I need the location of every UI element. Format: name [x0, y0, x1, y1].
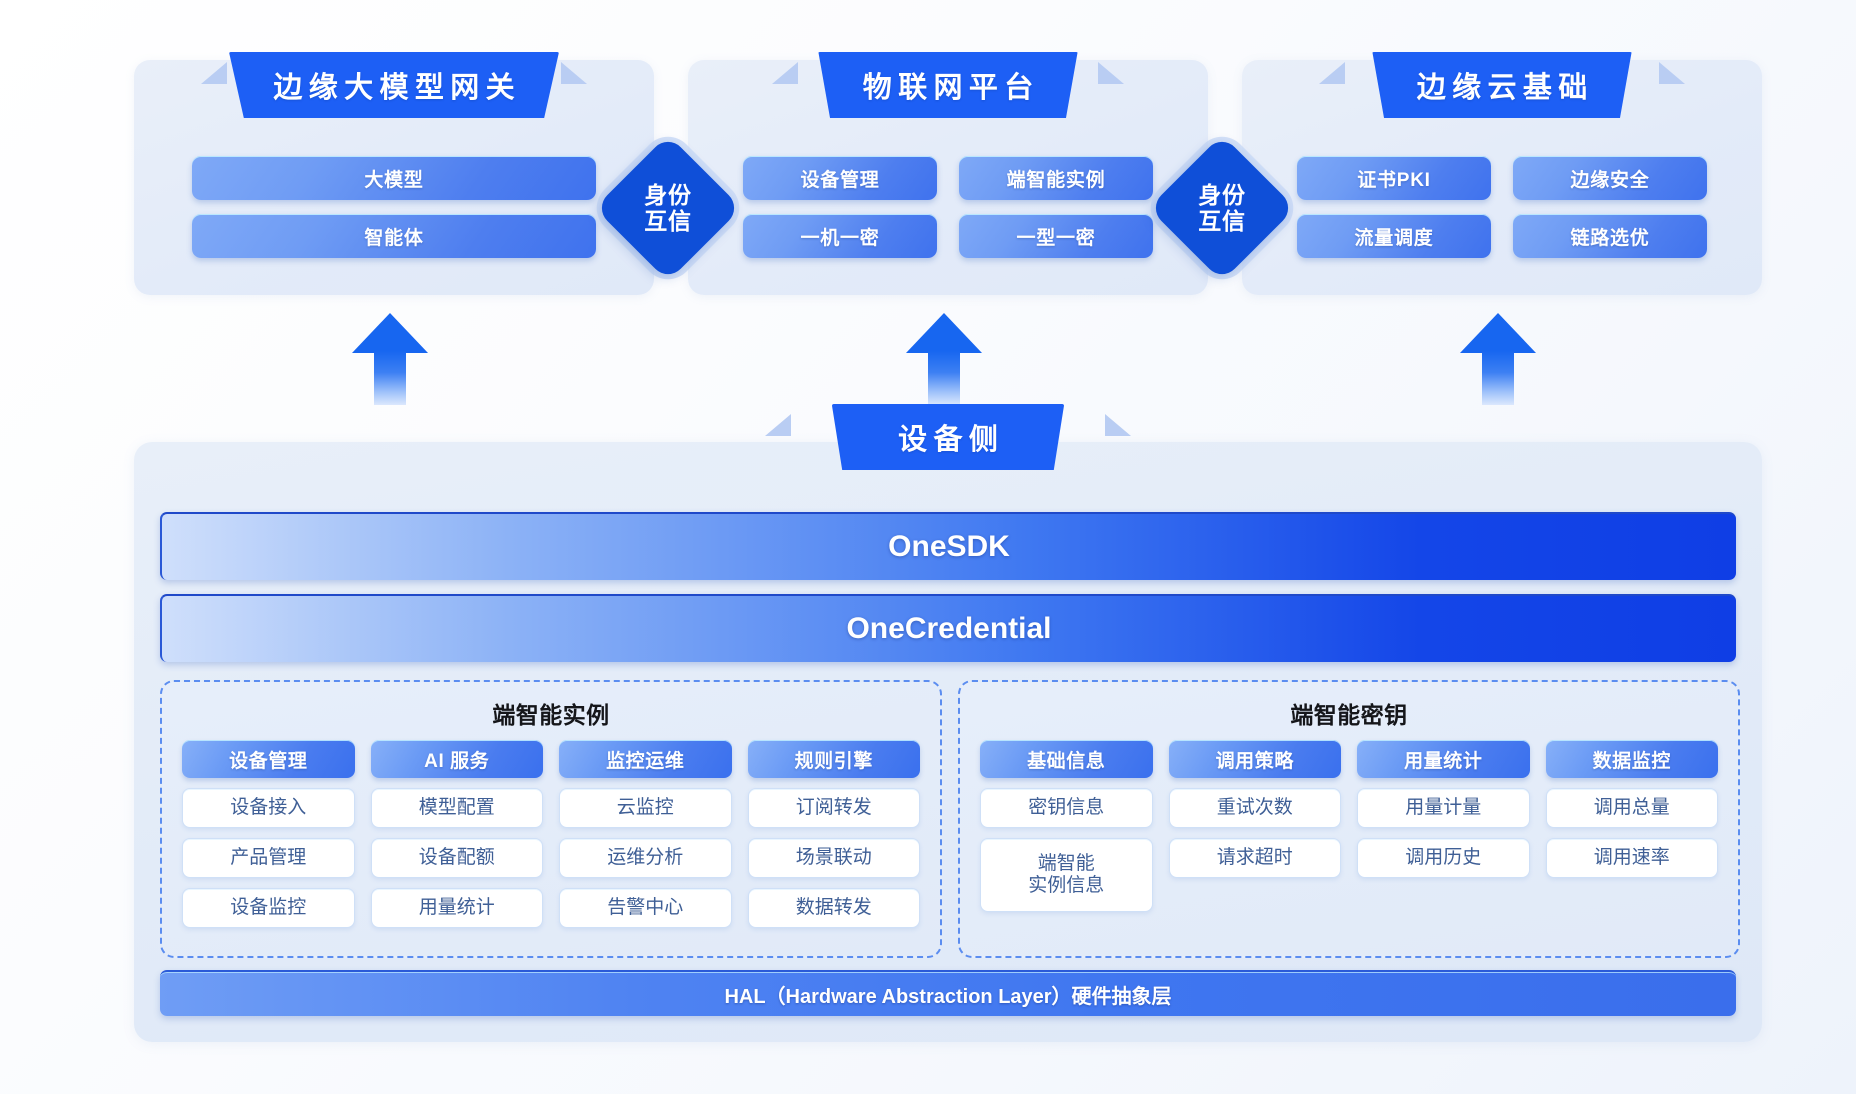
- column-head[interactable]: 调用策略: [1169, 740, 1342, 778]
- trust-badge-right[interactable]: 身份 互信: [1148, 134, 1295, 281]
- column-head[interactable]: 设备管理: [182, 740, 355, 778]
- column-head[interactable]: 用量统计: [1357, 740, 1530, 778]
- chip-item[interactable]: 链路选优: [1513, 214, 1707, 258]
- device-side-title: 设备侧: [892, 416, 1005, 458]
- bar-onecredential[interactable]: OneCredential: [160, 594, 1736, 662]
- column-cell[interactable]: 调用速率: [1546, 838, 1719, 878]
- column-cell[interactable]: 用量统计: [371, 888, 544, 928]
- column-cell[interactable]: 请求超时: [1169, 838, 1342, 878]
- group-edge-ai-instance: 端智能实例 设备管理 设备接入 产品管理 设备监控 AI 服务 模型配置 设备配…: [160, 680, 942, 958]
- panel-edge-llm-gateway: 边缘大模型网关 大模型 智能体: [134, 60, 654, 295]
- trust-badge-left[interactable]: 身份 互信: [594, 134, 741, 281]
- column-head[interactable]: 数据监控: [1546, 740, 1719, 778]
- column-cell[interactable]: 运维分析: [559, 838, 732, 878]
- banner-tail-left-icon: [772, 62, 798, 84]
- column-cell[interactable]: 模型配置: [371, 788, 544, 828]
- column-cell[interactable]: 设备接入: [182, 788, 355, 828]
- arrow-shaft-icon: [1482, 351, 1514, 405]
- column-cell[interactable]: 产品管理: [182, 838, 355, 878]
- group-column: 调用策略 重试次数 请求超时: [1169, 740, 1342, 942]
- chip-item[interactable]: 边缘安全: [1513, 156, 1707, 200]
- chip-item[interactable]: 智能体: [192, 214, 596, 258]
- column-cell[interactable]: 重试次数: [1169, 788, 1342, 828]
- arrow-to-gateway-icon: [352, 313, 428, 405]
- banner-tail-right-icon: [1659, 62, 1685, 84]
- group-column: 监控运维 云监控 运维分析 告警中心: [559, 740, 732, 942]
- panel-edge-cloud-infra: 边缘云基础 证书PKI 边缘安全 流量调度 链路选优: [1242, 60, 1762, 295]
- bar-onesdk[interactable]: OneSDK: [160, 512, 1736, 580]
- device-side-container: 设备侧 OneSDK OneCredential 端智能实例 设备管理 设备接入…: [134, 442, 1762, 1042]
- chip-item[interactable]: 一机一密: [743, 214, 937, 258]
- panel-title: 边缘云基础: [1410, 64, 1593, 106]
- arrow-head-icon: [906, 313, 982, 353]
- banner-tail-left-icon: [765, 414, 791, 436]
- column-cell[interactable]: 用量计量: [1357, 788, 1530, 828]
- panel-title: 物联网平台: [856, 64, 1039, 106]
- cell-line: 实例信息: [1028, 875, 1104, 897]
- column-cell[interactable]: 设备监控: [182, 888, 355, 928]
- hal-label: HAL（Hardware Abstraction Layer）硬件抽象层: [724, 980, 1171, 1009]
- chip-item[interactable]: 一型一密: [959, 214, 1153, 258]
- chip-item[interactable]: 流量调度: [1297, 214, 1491, 258]
- trust-badge-line1: 身份: [1198, 182, 1245, 208]
- panel-title: 边缘大模型网关: [267, 64, 521, 106]
- panel-banner-edge-llm-gateway: 边缘大模型网关: [219, 52, 569, 118]
- arrow-head-icon: [352, 313, 428, 353]
- column-cell[interactable]: 设备配额: [371, 838, 544, 878]
- banner-tail-right-icon: [1105, 414, 1131, 436]
- bar-label: OneCredential: [846, 612, 1051, 646]
- column-cell[interactable]: 场景联动: [748, 838, 921, 878]
- group-column: 基础信息 密钥信息 端智能实例信息: [980, 740, 1153, 942]
- column-cell[interactable]: 云监控: [559, 788, 732, 828]
- bar-label: OneSDK: [888, 530, 1010, 564]
- group-column: 规则引擎 订阅转发 场景联动 数据转发: [748, 740, 921, 942]
- column-cell-multiline[interactable]: 端智能实例信息: [980, 838, 1153, 912]
- trust-badge-line2: 互信: [644, 208, 691, 234]
- arrow-head-icon: [1460, 313, 1536, 353]
- arrow-shaft-icon: [374, 351, 406, 405]
- column-cell[interactable]: 数据转发: [748, 888, 921, 928]
- hal-bar[interactable]: HAL（Hardware Abstraction Layer）硬件抽象层: [160, 970, 1736, 1016]
- group-title: 端智能实例: [162, 696, 940, 730]
- group-edge-ai-key: 端智能密钥 基础信息 密钥信息 端智能实例信息 调用策略 重试次数 请求超时 用…: [958, 680, 1740, 958]
- column-cell[interactable]: 密钥信息: [980, 788, 1153, 828]
- group-column: 设备管理 设备接入 产品管理 设备监控: [182, 740, 355, 942]
- trust-badge-line2: 互信: [1198, 208, 1245, 234]
- panel-banner-iot-platform: 物联网平台: [790, 52, 1106, 118]
- chip-item[interactable]: 端智能实例: [959, 156, 1153, 200]
- column-head[interactable]: 基础信息: [980, 740, 1153, 778]
- group-column: 数据监控 调用总量 调用速率: [1546, 740, 1719, 942]
- architecture-diagram: 边缘大模型网关 大模型 智能体 物联网平台 设备管理 端智能实例 一机一密 一型…: [0, 0, 1856, 1094]
- chip-item[interactable]: 设备管理: [743, 156, 937, 200]
- column-head[interactable]: 规则引擎: [748, 740, 921, 778]
- cell-line: 端智能: [1038, 853, 1095, 875]
- column-head[interactable]: AI 服务: [371, 740, 544, 778]
- panel-iot-platform: 物联网平台 设备管理 端智能实例 一机一密 一型一密: [688, 60, 1208, 295]
- arrow-to-iot-icon: [906, 313, 982, 405]
- column-cell[interactable]: 调用总量: [1546, 788, 1719, 828]
- column-head[interactable]: 监控运维: [559, 740, 732, 778]
- panel-banner-edge-cloud-infra: 边缘云基础: [1337, 52, 1667, 118]
- column-cell[interactable]: 调用历史: [1357, 838, 1530, 878]
- banner-tail-left-icon: [201, 62, 227, 84]
- banner-tail-right-icon: [1098, 62, 1124, 84]
- column-cell[interactable]: 告警中心: [559, 888, 732, 928]
- group-column: 用量统计 用量计量 调用历史: [1357, 740, 1530, 942]
- chip-item[interactable]: 证书PKI: [1297, 156, 1491, 200]
- column-cell[interactable]: 订阅转发: [748, 788, 921, 828]
- group-column: AI 服务 模型配置 设备配额 用量统计: [371, 740, 544, 942]
- arrow-shaft-icon: [928, 351, 960, 405]
- banner-tail-right-icon: [561, 62, 587, 84]
- trust-badge-line1: 身份: [644, 182, 691, 208]
- chip-item[interactable]: 大模型: [192, 156, 596, 200]
- arrow-to-edge-cloud-icon: [1460, 313, 1536, 405]
- banner-tail-left-icon: [1319, 62, 1345, 84]
- device-side-banner: 设备侧: [783, 404, 1113, 470]
- group-title: 端智能密钥: [960, 696, 1738, 730]
